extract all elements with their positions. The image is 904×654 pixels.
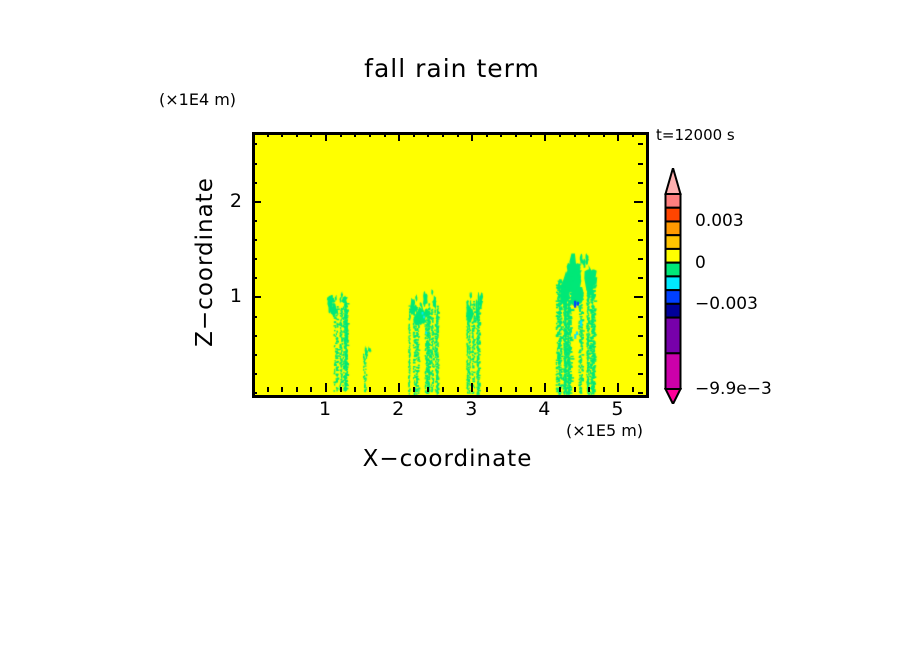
y-major-tick: [252, 296, 261, 298]
y-minor-tick: [252, 258, 257, 260]
colorbar-tick-label: −9.9e−3: [695, 379, 772, 399]
x-minor-tick-top: [354, 132, 356, 137]
x-minor-tick: [281, 387, 283, 392]
x-minor-tick-top: [310, 132, 312, 137]
y-minor-tick: [252, 354, 257, 356]
x-major-tick: [471, 383, 473, 392]
time-annotation: t=12000 s: [656, 128, 735, 143]
x-minor-tick: [310, 387, 312, 392]
x-minor-tick-top: [457, 132, 459, 137]
y-major-tick-right: [634, 296, 643, 298]
x-major-tick-top: [325, 132, 327, 141]
y-minor-tick: [252, 220, 257, 222]
x-minor-tick: [603, 387, 605, 392]
y-minor-tick: [252, 392, 257, 394]
y-minor-tick: [252, 373, 257, 375]
colorbar: [664, 168, 682, 404]
colorbar-tick-label: 0: [695, 253, 706, 273]
y-minor-tick: [252, 163, 257, 165]
x-minor-tick-top: [281, 132, 283, 137]
x-minor-tick-top: [603, 132, 605, 137]
x-tick-label: 5: [611, 398, 623, 420]
x-major-tick: [544, 383, 546, 392]
x-minor-tick-top: [296, 132, 298, 137]
y-minor-tick: [252, 143, 257, 145]
x-minor-tick-top: [384, 132, 386, 137]
y-minor-tick-right: [638, 143, 643, 145]
x-major-tick-top: [617, 132, 619, 141]
y-tick-label: 2: [216, 190, 242, 212]
x-minor-tick: [442, 387, 444, 392]
y-minor-tick-right: [638, 354, 643, 356]
x-major-tick-top: [471, 132, 473, 141]
x-minor-tick-top: [559, 132, 561, 137]
x-minor-tick-top: [530, 132, 532, 137]
x-minor-tick: [369, 387, 371, 392]
x-minor-tick-top: [427, 132, 429, 137]
x-minor-tick: [427, 387, 429, 392]
colorbar-tick-label: −0.003: [695, 294, 758, 314]
y-axis-unit-label: (×1E4 m): [159, 92, 236, 108]
x-minor-tick: [296, 387, 298, 392]
x-minor-tick-top: [632, 132, 634, 137]
x-minor-tick-top: [340, 132, 342, 137]
y-minor-tick-right: [638, 335, 643, 337]
plot-area: [252, 132, 649, 398]
y-minor-tick: [252, 239, 257, 241]
x-minor-tick: [413, 387, 415, 392]
x-minor-tick-top: [267, 132, 269, 137]
y-minor-tick-right: [638, 277, 643, 279]
x-minor-tick-top: [574, 132, 576, 137]
x-minor-tick: [384, 387, 386, 392]
y-minor-tick-right: [638, 182, 643, 184]
y-minor-tick-right: [638, 220, 643, 222]
x-tick-label: 3: [465, 398, 477, 420]
x-minor-tick-top: [515, 132, 517, 137]
chart-title: fall rain term: [0, 56, 904, 81]
x-major-tick: [617, 383, 619, 392]
x-tick-label: 4: [538, 398, 550, 420]
x-minor-tick-top: [413, 132, 415, 137]
y-major-tick-right: [634, 201, 643, 203]
y-major-tick: [252, 201, 261, 203]
x-major-tick-top: [398, 132, 400, 141]
colorbar-bands: [664, 168, 682, 404]
x-minor-tick: [340, 387, 342, 392]
x-tick-label: 1: [319, 398, 331, 420]
y-minor-tick: [252, 335, 257, 337]
x-minor-tick: [559, 387, 561, 392]
x-minor-tick-top: [500, 132, 502, 137]
x-minor-tick-top: [369, 132, 371, 137]
x-major-tick-top: [544, 132, 546, 141]
y-minor-tick: [252, 182, 257, 184]
x-minor-tick: [530, 387, 532, 392]
y-minor-tick-right: [638, 163, 643, 165]
colorbar-tick-label: 0.003: [695, 211, 744, 231]
y-minor-tick-right: [638, 392, 643, 394]
x-major-tick: [398, 383, 400, 392]
x-major-tick: [325, 383, 327, 392]
y-minor-tick: [252, 277, 257, 279]
y-tick-label: 1: [216, 285, 242, 307]
y-minor-tick-right: [638, 316, 643, 318]
x-axis-unit-label: (×1E5 m): [566, 423, 643, 439]
x-minor-tick-top: [442, 132, 444, 137]
y-axis-title: Z−coordinate: [192, 177, 218, 347]
y-minor-tick-right: [638, 239, 643, 241]
x-minor-tick-top: [486, 132, 488, 137]
x-minor-tick-top: [588, 132, 590, 137]
x-minor-tick: [486, 387, 488, 392]
x-tick-label: 2: [392, 398, 404, 420]
x-minor-tick: [500, 387, 502, 392]
x-axis-title: X−coordinate: [252, 448, 643, 471]
x-minor-tick: [574, 387, 576, 392]
figure-canvas: fall rain term (×1E4 m) (×1E5 m) t=12000…: [0, 0, 904, 654]
y-minor-tick: [252, 316, 257, 318]
x-minor-tick-top: [252, 132, 254, 137]
x-minor-tick: [515, 387, 517, 392]
x-minor-tick: [457, 387, 459, 392]
x-minor-tick: [354, 387, 356, 392]
x-minor-tick: [267, 387, 269, 392]
x-minor-tick: [588, 387, 590, 392]
contour-field-canvas: [255, 135, 646, 395]
x-minor-tick: [632, 387, 634, 392]
y-minor-tick-right: [638, 258, 643, 260]
y-minor-tick-right: [638, 373, 643, 375]
